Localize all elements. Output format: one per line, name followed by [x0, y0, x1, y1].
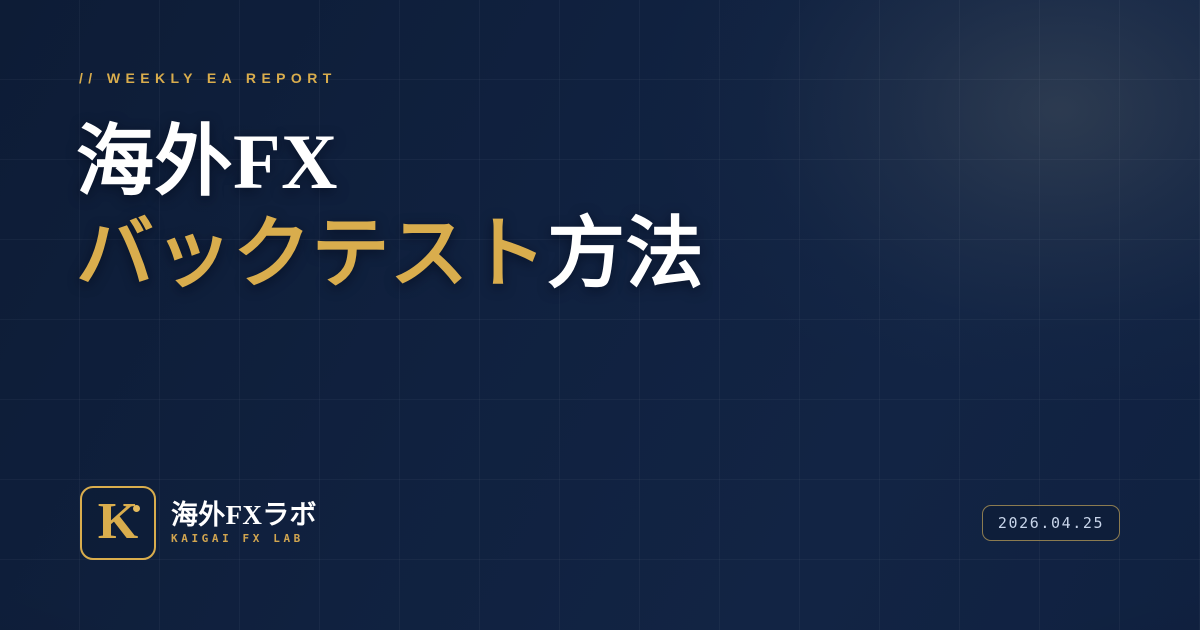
brand-logo-dot-icon — [133, 505, 140, 512]
brand-logo-letter: K — [82, 496, 154, 548]
headline-line-2-gold-text: バックテスト — [76, 210, 547, 297]
brand-subtitle: KAIGAI FX LAB — [171, 532, 317, 546]
headline-line-1-text: 海外FX — [76, 118, 338, 205]
headline-line-2: バックテスト方法 — [76, 208, 1076, 300]
headline-block: 海外FX バックテスト方法 — [76, 116, 1076, 300]
brand-text-block: 海外FXラボ KAIGAI FX LAB — [171, 500, 317, 546]
og-card-canvas: // WEEKLY EA REPORT 海外FX バックテスト方法 K 海外FX… — [0, 0, 1200, 630]
brand-name: 海外FXラボ — [171, 500, 317, 530]
brand-lockup: K 海外FXラボ KAIGAI FX LAB — [80, 486, 317, 560]
eyebrow-label: // WEEKLY EA REPORT — [79, 68, 337, 88]
headline-line-1: 海外FX — [76, 116, 1076, 208]
brand-logo-icon: K — [80, 486, 156, 560]
date-badge: 2026.04.25 — [982, 505, 1120, 541]
headline-line-2-white-text: 方法 — [547, 210, 704, 297]
